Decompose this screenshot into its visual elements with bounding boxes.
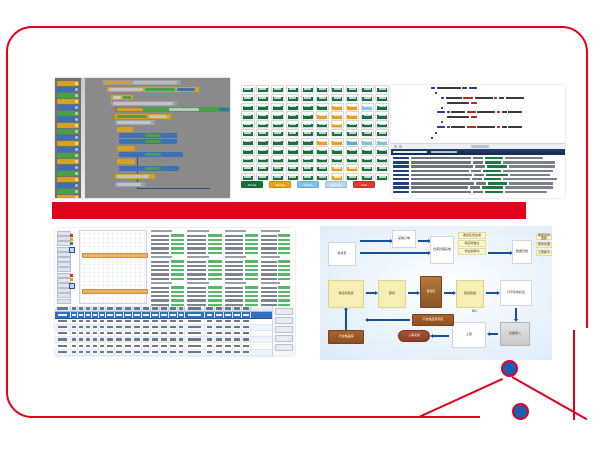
palette-block-0[interactable] — [57, 81, 79, 86]
table-cell-r2c12[interactable] — [160, 325, 169, 330]
flow-node-order-system[interactable]: 采购订单 — [392, 230, 416, 248]
column-header-16[interactable] — [205, 306, 215, 311]
table-cell-r6c18[interactable] — [224, 350, 233, 355]
table-cell-r0c13[interactable] — [169, 312, 178, 317]
table-cell-r1c4[interactable] — [92, 319, 99, 324]
table-cell-r1c14[interactable] — [178, 319, 185, 324]
table-cell-r4c9[interactable] — [133, 337, 142, 342]
table-cell-r5c4[interactable] — [92, 343, 99, 348]
table-cell-r2c11[interactable] — [151, 325, 160, 330]
table-cell-r4c7[interactable] — [115, 337, 124, 342]
status-cell-r1c3[interactable] — [286, 94, 300, 101]
table-cell-r6c16[interactable] — [205, 350, 215, 355]
table-cell-r4c17[interactable] — [215, 337, 224, 342]
column-header-13[interactable] — [169, 306, 178, 311]
table-cell-r0c0[interactable] — [55, 312, 71, 317]
schedule-row-headers[interactable] — [55, 228, 77, 306]
table-cell-r4c6[interactable] — [106, 337, 115, 342]
palette-block-6[interactable] — [57, 117, 79, 122]
status-cell-r0c1[interactable] — [256, 85, 270, 92]
status-cell-r1c0[interactable] — [241, 94, 255, 101]
status-cell-r5c5[interactable] — [316, 129, 330, 136]
table-cell-r3c11[interactable] — [151, 331, 160, 336]
status-cell-r0c4[interactable] — [301, 85, 315, 92]
status-cell-r6c0[interactable] — [241, 138, 255, 145]
column-header-0[interactable] — [55, 306, 71, 311]
table-cell-r0c5[interactable] — [99, 312, 106, 317]
table-cell-r1c10[interactable] — [142, 319, 151, 324]
column-header-11[interactable] — [151, 306, 160, 311]
table-cell-r5c9[interactable] — [133, 343, 142, 348]
table-cell-r5c6[interactable] — [106, 343, 115, 348]
flow-node-unloading[interactable]: 卸货 — [378, 280, 406, 308]
table-cell-r6c17[interactable] — [215, 350, 224, 355]
code-block-10[interactable] — [117, 146, 135, 151]
table-cell-r3c3[interactable] — [85, 331, 92, 336]
table-cell-r5c10[interactable] — [142, 343, 151, 348]
table-cell-r4c1[interactable] — [71, 337, 78, 342]
table-cell-r3c8[interactable] — [124, 331, 133, 336]
table-cell-r5c8[interactable] — [124, 343, 133, 348]
table-cell-r6c10[interactable] — [142, 350, 151, 355]
table-cell-r4c16[interactable] — [205, 337, 215, 342]
table-cell-r0c12[interactable] — [160, 312, 169, 317]
status-cell-r3c1[interactable] — [256, 111, 270, 118]
table-cell-r1c9[interactable] — [133, 319, 142, 324]
table-cell-r5c14[interactable] — [178, 343, 185, 348]
status-cell-r8c0[interactable] — [241, 155, 255, 162]
palette-block-10[interactable] — [57, 141, 79, 146]
table-cell-r2c14[interactable] — [178, 325, 185, 330]
table-cell-r3c16[interactable] — [205, 331, 215, 336]
table-cell-r5c13[interactable] — [169, 343, 178, 348]
blocks-workspace[interactable] — [85, 78, 230, 198]
table-cell-r0c2[interactable] — [78, 312, 85, 317]
status-cell-r3c0[interactable] — [241, 111, 255, 118]
status-cell-r10c6[interactable] — [331, 173, 345, 180]
palette-block-1[interactable] — [57, 87, 79, 92]
table-cell-r3c17[interactable] — [215, 331, 224, 336]
block-socket-13-0[interactable] — [121, 167, 143, 171]
status-cell-r6c1[interactable] — [256, 138, 270, 145]
grid-side-button-0[interactable] — [275, 308, 293, 315]
status-cell-r3c5[interactable] — [316, 111, 330, 118]
status-cell-r9c8[interactable] — [361, 164, 375, 171]
table-cell-r1c11[interactable] — [151, 319, 160, 324]
table-cell-r0c3[interactable] — [85, 312, 92, 317]
column-header-10[interactable] — [142, 306, 151, 311]
block-socket-8-2[interactable] — [163, 134, 173, 138]
block-socket-4-1[interactable] — [145, 108, 167, 112]
status-cell-r7c7[interactable] — [346, 146, 360, 153]
table-cell-r1c12[interactable] — [160, 319, 169, 324]
column-header-7[interactable] — [115, 306, 124, 311]
table-cell-r3c20[interactable] — [242, 331, 251, 336]
status-cell-r10c3[interactable] — [286, 173, 300, 180]
table-cell-r1c8[interactable] — [124, 319, 133, 324]
status-cell-r9c1[interactable] — [256, 164, 270, 171]
block-socket-11-2[interactable] — [163, 153, 179, 157]
table-cell-r4c5[interactable] — [99, 337, 106, 342]
table-cell-r6c6[interactable] — [106, 350, 115, 355]
flow-node-inbound-complete[interactable]: 入库完成 — [398, 330, 430, 342]
palette-block-3[interactable] — [57, 99, 79, 104]
status-cell-r10c5[interactable] — [316, 173, 330, 180]
status-cell-r6c3[interactable] — [286, 138, 300, 145]
status-cell-r8c9[interactable] — [375, 155, 389, 162]
table-cell-r0c14[interactable] — [178, 312, 185, 317]
block-socket-4-2[interactable] — [169, 108, 199, 112]
table-cell-r4c2[interactable] — [78, 337, 85, 342]
status-cell-r5c0[interactable] — [241, 129, 255, 136]
flow-node-shelving[interactable]: 上架 — [452, 322, 486, 348]
status-cell-r4c7[interactable] — [346, 120, 360, 127]
table-cell-r2c15[interactable] — [185, 325, 205, 330]
table-cell-r0c20[interactable] — [242, 312, 251, 317]
column-header-2[interactable] — [78, 306, 85, 311]
grid-side-button-4[interactable] — [275, 344, 293, 351]
code-block-9[interactable] — [119, 139, 177, 144]
data-grid-body[interactable] — [55, 312, 295, 355]
status-cell-r9c4[interactable] — [301, 164, 315, 171]
status-cell-r0c8[interactable] — [361, 85, 375, 92]
table-cell-r2c7[interactable] — [115, 325, 124, 330]
code-block-13[interactable] — [119, 166, 179, 171]
status-cell-r4c0[interactable] — [241, 120, 255, 127]
table-cell-r3c10[interactable] — [142, 331, 151, 336]
block-socket-9-2[interactable] — [163, 140, 173, 144]
status-cell-r0c2[interactable] — [271, 85, 285, 92]
status-cell-r8c7[interactable] — [346, 155, 360, 162]
flow-node-quality-check[interactable]: 到货检验 — [456, 280, 484, 308]
table-cell-r6c2[interactable] — [78, 350, 85, 355]
column-header-3[interactable] — [85, 306, 92, 311]
block-socket-11-0[interactable] — [121, 153, 143, 157]
flow-node-wms-terminal[interactable]: 仓库管理系统 — [430, 236, 454, 264]
status-cell-r3c4[interactable] — [301, 111, 315, 118]
flow-node-scan-in[interactable]: 扫描录入 — [500, 322, 530, 346]
table-cell-r0c4[interactable] — [92, 312, 99, 317]
table-cell-r6c3[interactable] — [85, 350, 92, 355]
palette-block-17[interactable] — [57, 183, 79, 188]
table-cell-r2c9[interactable] — [133, 325, 142, 330]
table-cell-r2c5[interactable] — [99, 325, 106, 330]
flow-node-reject-area[interactable]: 不合格品暂存区 — [412, 314, 454, 326]
blocks-palette[interactable] — [55, 78, 81, 198]
block-socket-6-0[interactable] — [117, 121, 151, 125]
table-cell-r2c17[interactable] — [215, 325, 224, 330]
status-cell-r2c4[interactable] — [301, 103, 315, 110]
code-block-3[interactable] — [111, 101, 177, 106]
status-cell-r10c9[interactable] — [375, 173, 389, 180]
flow-node-erp-archive[interactable]: 数据归档 — [512, 240, 532, 264]
flow-node-temp-storage[interactable]: 暂存区 — [420, 276, 442, 308]
status-cell-r4c4[interactable] — [301, 120, 315, 127]
column-header-8[interactable] — [124, 306, 133, 311]
status-cell-r1c7[interactable] — [346, 94, 360, 101]
table-cell-r5c17[interactable] — [215, 343, 224, 348]
status-cell-r4c3[interactable] — [286, 120, 300, 127]
status-cell-r2c6[interactable] — [331, 103, 345, 110]
status-cell-r0c0[interactable] — [241, 85, 255, 92]
status-cell-r1c2[interactable] — [271, 94, 285, 101]
status-cell-r5c7[interactable] — [346, 129, 360, 136]
column-header-14[interactable] — [178, 306, 185, 311]
status-cell-r10c2[interactable] — [271, 173, 285, 180]
table-cell-r1c20[interactable] — [242, 319, 251, 324]
table-cell-r4c12[interactable] — [160, 337, 169, 342]
table-cell-r1c0[interactable] — [55, 319, 71, 324]
table-cell-r3c19[interactable] — [233, 331, 242, 336]
code-block-14[interactable] — [115, 174, 155, 179]
status-cell-r9c9[interactable] — [375, 164, 389, 171]
table-row[interactable] — [55, 350, 295, 356]
table-cell-r6c19[interactable] — [233, 350, 242, 355]
table-cell-r6c5[interactable] — [99, 350, 106, 355]
table-cell-r0c1[interactable] — [71, 312, 78, 317]
table-cell-r3c1[interactable] — [71, 331, 78, 336]
table-cell-r0c8[interactable] — [124, 312, 133, 317]
table-cell-r5c5[interactable] — [99, 343, 106, 348]
status-cell-r8c2[interactable] — [271, 155, 285, 162]
block-socket-0-0[interactable] — [105, 81, 131, 85]
table-cell-r6c8[interactable] — [124, 350, 133, 355]
code-block-8[interactable] — [119, 133, 177, 138]
status-cell-r6c9[interactable] — [375, 138, 389, 145]
status-cell-r0c3[interactable] — [286, 85, 300, 92]
table-cell-r1c13[interactable] — [169, 319, 178, 324]
table-cell-r6c9[interactable] — [133, 350, 142, 355]
table-cell-r3c18[interactable] — [224, 331, 233, 336]
table-cell-r2c2[interactable] — [78, 325, 85, 330]
table-cell-r4c8[interactable] — [124, 337, 133, 342]
status-cell-r3c3[interactable] — [286, 111, 300, 118]
gantt-bar-0[interactable] — [82, 253, 148, 258]
table-cell-r4c11[interactable] — [151, 337, 160, 342]
table-cell-r4c0[interactable] — [55, 337, 71, 342]
palette-block-2[interactable] — [57, 93, 79, 98]
table-cell-r6c13[interactable] — [169, 350, 178, 355]
block-socket-13-1[interactable] — [145, 167, 161, 171]
status-cell-r2c2[interactable] — [271, 103, 285, 110]
palette-block-13[interactable] — [57, 159, 79, 164]
table-cell-r6c12[interactable] — [160, 350, 169, 355]
status-cell-r5c2[interactable] — [271, 129, 285, 136]
code-block-1[interactable] — [107, 87, 199, 92]
table-cell-r1c7[interactable] — [115, 319, 124, 324]
gantt-marker-1[interactable] — [69, 283, 75, 289]
status-cell-r3c6[interactable] — [331, 111, 345, 118]
status-cell-r4c1[interactable] — [256, 120, 270, 127]
status-cell-r9c2[interactable] — [271, 164, 285, 171]
block-socket-11-1[interactable] — [145, 153, 161, 157]
status-cell-r1c5[interactable] — [316, 94, 330, 101]
data-grid-side-toolbar[interactable] — [272, 306, 295, 356]
status-cell-r1c8[interactable] — [361, 94, 375, 101]
code-and-log-panel[interactable] — [391, 85, 565, 198]
status-cell-r2c8[interactable] — [361, 103, 375, 110]
table-cell-r0c18[interactable] — [224, 312, 233, 317]
status-cell-r1c6[interactable] — [331, 94, 345, 101]
column-header-1[interactable] — [71, 306, 78, 311]
status-cell-r4c6[interactable] — [331, 120, 345, 127]
status-cell-r1c1[interactable] — [256, 94, 270, 101]
flow-node-receiver[interactable]: 收货员 — [328, 242, 356, 266]
table-cell-r4c10[interactable] — [142, 337, 151, 342]
table-cell-r1c5[interactable] — [99, 319, 106, 324]
table-cell-r0c9[interactable] — [133, 312, 142, 317]
status-cell-r5c6[interactable] — [331, 129, 345, 136]
table-cell-r6c14[interactable] — [178, 350, 185, 355]
table-cell-r1c19[interactable] — [233, 319, 242, 324]
status-cell-r4c5[interactable] — [316, 120, 330, 127]
column-header-19[interactable] — [233, 306, 242, 311]
table-cell-r1c15[interactable] — [185, 319, 205, 324]
status-cell-r6c2[interactable] — [271, 138, 285, 145]
table-cell-r4c4[interactable] — [92, 337, 99, 342]
column-header-5[interactable] — [99, 306, 106, 311]
grid-side-button-2[interactable] — [275, 326, 293, 333]
code-block-15[interactable] — [115, 182, 145, 187]
status-cell-r9c7[interactable] — [346, 164, 360, 171]
status-cell-r10c4[interactable] — [301, 173, 315, 180]
block-socket-9-0[interactable] — [121, 140, 143, 144]
status-cell-r6c5[interactable] — [316, 138, 330, 145]
status-cell-r1c4[interactable] — [301, 94, 315, 101]
status-cell-r4c8[interactable] — [361, 120, 375, 127]
table-cell-r5c12[interactable] — [160, 343, 169, 348]
table-cell-r2c13[interactable] — [169, 325, 178, 330]
table-cell-r2c20[interactable] — [242, 325, 251, 330]
table-cell-r4c3[interactable] — [85, 337, 92, 342]
table-cell-r5c20[interactable] — [242, 343, 251, 348]
status-cell-r1c9[interactable] — [375, 94, 389, 101]
status-cell-r6c7[interactable] — [346, 138, 360, 145]
status-cell-r3c2[interactable] — [271, 111, 285, 118]
table-cell-r5c2[interactable] — [78, 343, 85, 348]
code-block-4[interactable] — [115, 107, 230, 112]
table-cell-r6c0[interactable] — [55, 350, 71, 355]
table-cell-r5c11[interactable] — [151, 343, 160, 348]
table-cell-r5c15[interactable] — [185, 343, 205, 348]
status-cell-r7c3[interactable] — [286, 146, 300, 153]
table-cell-r2c0[interactable] — [55, 325, 71, 330]
block-socket-8-1[interactable] — [145, 134, 161, 138]
status-cell-r7c4[interactable] — [301, 146, 315, 153]
table-cell-r6c15[interactable] — [185, 350, 205, 355]
data-grid[interactable] — [55, 306, 295, 356]
status-cell-r10c8[interactable] — [361, 173, 375, 180]
table-cell-r0c6[interactable] — [106, 312, 115, 317]
status-cell-r8c4[interactable] — [301, 155, 315, 162]
palette-block-4[interactable] — [57, 105, 79, 110]
status-cell-r7c1[interactable] — [256, 146, 270, 153]
table-cell-r2c4[interactable] — [92, 325, 99, 330]
block-socket-1-1[interactable] — [145, 88, 175, 92]
status-cell-r2c7[interactable] — [346, 103, 360, 110]
palette-block-15[interactable] — [57, 171, 79, 176]
table-cell-r3c2[interactable] — [78, 331, 85, 336]
block-socket-4-4[interactable] — [219, 108, 229, 112]
status-cell-r9c0[interactable] — [241, 164, 255, 171]
flow-node-supplier-delivery[interactable]: 供应商送货 — [328, 280, 364, 308]
status-grid-panel[interactable] — [241, 85, 389, 177]
code-block-11[interactable] — [119, 152, 183, 157]
table-cell-r6c20[interactable] — [242, 350, 251, 355]
block-socket-9-1[interactable] — [145, 140, 161, 144]
table-cell-r0c10[interactable] — [142, 312, 151, 317]
status-cell-r9c5[interactable] — [316, 164, 330, 171]
grid-side-button-3[interactable] — [275, 335, 293, 342]
block-socket-4-0[interactable] — [117, 108, 143, 112]
status-cell-r7c2[interactable] — [271, 146, 285, 153]
table-cell-r1c17[interactable] — [215, 319, 224, 324]
table-cell-r5c3[interactable] — [85, 343, 92, 348]
palette-block-14[interactable] — [57, 165, 79, 170]
status-cell-r6c6[interactable] — [331, 138, 345, 145]
table-cell-r6c1[interactable] — [71, 350, 78, 355]
table-cell-r5c1[interactable] — [71, 343, 78, 348]
table-cell-r0c16[interactable] — [205, 312, 215, 317]
status-cell-r5c3[interactable] — [286, 129, 300, 136]
log-output-list[interactable] — [391, 155, 565, 198]
status-cell-r10c0[interactable] — [241, 173, 255, 180]
block-socket-5-0[interactable] — [117, 115, 147, 119]
gantt-bar-1[interactable] — [82, 289, 148, 294]
table-cell-r4c13[interactable] — [169, 337, 178, 342]
flow-node-barcode-print[interactable]: 打印条码标签 — [500, 280, 532, 306]
status-cell-r5c8[interactable] — [361, 129, 375, 136]
gantt-marker-0[interactable] — [69, 247, 75, 253]
table-cell-r2c6[interactable] — [106, 325, 115, 330]
status-cell-r6c4[interactable] — [301, 138, 315, 145]
table-cell-r6c7[interactable] — [115, 350, 124, 355]
table-cell-r2c16[interactable] — [205, 325, 215, 330]
table-cell-r3c4[interactable] — [92, 331, 99, 336]
block-socket-1-2[interactable] — [177, 88, 195, 92]
table-cell-r2c1[interactable] — [71, 325, 78, 330]
block-socket-3-0[interactable] — [113, 102, 173, 106]
table-cell-r1c16[interactable] — [205, 319, 215, 324]
status-cell-r0c6[interactable] — [331, 85, 345, 92]
palette-block-12[interactable] — [57, 153, 79, 158]
block-socket-2-0[interactable] — [113, 96, 121, 100]
blocks-editor-panel[interactable] — [55, 78, 230, 198]
table-cell-r1c3[interactable] — [85, 319, 92, 324]
status-cell-r2c0[interactable] — [241, 103, 255, 110]
palette-block-7[interactable] — [57, 123, 79, 128]
column-header-20[interactable] — [242, 306, 251, 311]
status-cell-r8c8[interactable] — [361, 155, 375, 162]
status-cell-r8c6[interactable] — [331, 155, 345, 162]
flow-node-reject-warehouse[interactable]: 不合格品库 — [328, 330, 364, 344]
palette-block-16[interactable] — [57, 177, 79, 182]
status-cell-r7c5[interactable] — [316, 146, 330, 153]
block-socket-14-0[interactable] — [117, 175, 149, 179]
table-cell-r2c19[interactable] — [233, 325, 242, 330]
table-cell-r0c15[interactable] — [185, 312, 205, 317]
status-cell-r5c4[interactable] — [301, 129, 315, 136]
table-cell-r3c14[interactable] — [178, 331, 185, 336]
block-socket-13-2[interactable] — [163, 167, 175, 171]
source-code-area[interactable] — [391, 85, 565, 146]
status-cell-r3c8[interactable] — [361, 111, 375, 118]
table-cell-r3c7[interactable] — [115, 331, 124, 336]
status-cell-r9c3[interactable] — [286, 164, 300, 171]
status-cell-r3c7[interactable] — [346, 111, 360, 118]
status-cell-r6c8[interactable] — [361, 138, 375, 145]
status-cell-r10c7[interactable] — [346, 173, 360, 180]
